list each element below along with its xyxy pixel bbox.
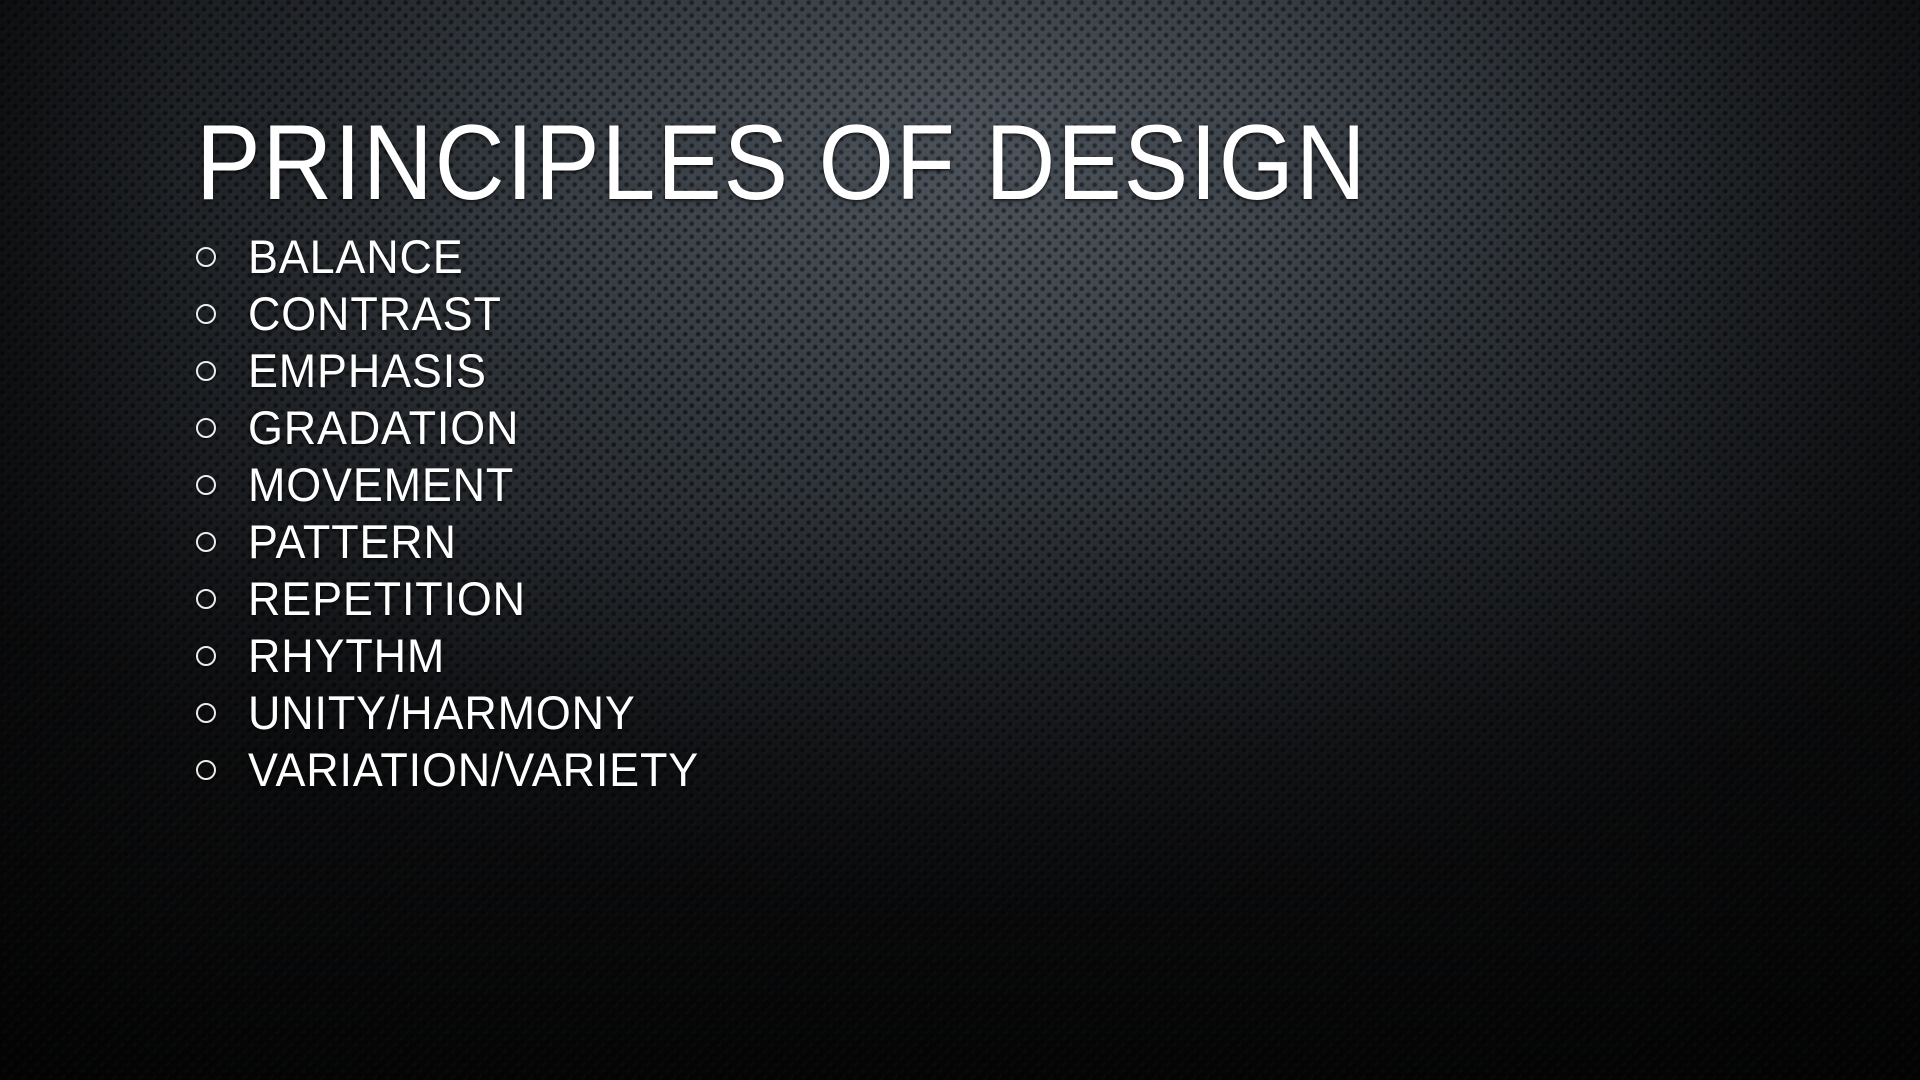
list-item: EMPHASIS bbox=[196, 342, 1496, 399]
hollow-circle-bullet-icon bbox=[196, 532, 216, 552]
list-item: REPETITION bbox=[196, 570, 1496, 627]
list-item: BALANCE bbox=[196, 228, 1496, 285]
slide-content: PRINCIPLES OF DESIGN BALANCE CONTRAST EM… bbox=[0, 0, 1920, 1080]
list-item-label: BALANCE bbox=[248, 233, 464, 280]
list-item: GRADATION bbox=[196, 399, 1496, 456]
list-item: MOVEMENT bbox=[196, 456, 1496, 513]
list-item: PATTERN bbox=[196, 513, 1496, 570]
list-item-label: GRADATION bbox=[248, 404, 519, 451]
hollow-circle-bullet-icon bbox=[196, 418, 216, 438]
hollow-circle-bullet-icon bbox=[196, 475, 216, 495]
hollow-circle-bullet-icon bbox=[196, 361, 216, 381]
list-item-label: CONTRAST bbox=[248, 290, 502, 337]
hollow-circle-bullet-icon bbox=[196, 247, 216, 267]
slide-title: PRINCIPLES OF DESIGN bbox=[196, 100, 1644, 224]
hollow-circle-bullet-icon bbox=[196, 760, 216, 780]
list-item-label: RHYTHM bbox=[248, 632, 445, 679]
presentation-slide: PRINCIPLES OF DESIGN BALANCE CONTRAST EM… bbox=[0, 0, 1920, 1080]
list-item-label: REPETITION bbox=[248, 575, 526, 622]
principles-bullet-list: BALANCE CONTRAST EMPHASIS GRADATION MOVE… bbox=[196, 228, 1496, 798]
list-item-label: UNITY/HARMONY bbox=[248, 689, 636, 736]
list-item-label: VARIATION/VARIETY bbox=[248, 746, 699, 793]
hollow-circle-bullet-icon bbox=[196, 589, 216, 609]
list-item-label: MOVEMENT bbox=[248, 461, 514, 508]
list-item: RHYTHM bbox=[196, 627, 1496, 684]
hollow-circle-bullet-icon bbox=[196, 703, 216, 723]
list-item: VARIATION/VARIETY bbox=[196, 741, 1496, 798]
hollow-circle-bullet-icon bbox=[196, 304, 216, 324]
hollow-circle-bullet-icon bbox=[196, 646, 216, 666]
list-item: UNITY/HARMONY bbox=[196, 684, 1496, 741]
list-item: CONTRAST bbox=[196, 285, 1496, 342]
list-item-label: PATTERN bbox=[248, 518, 457, 565]
list-item-label: EMPHASIS bbox=[248, 347, 487, 394]
